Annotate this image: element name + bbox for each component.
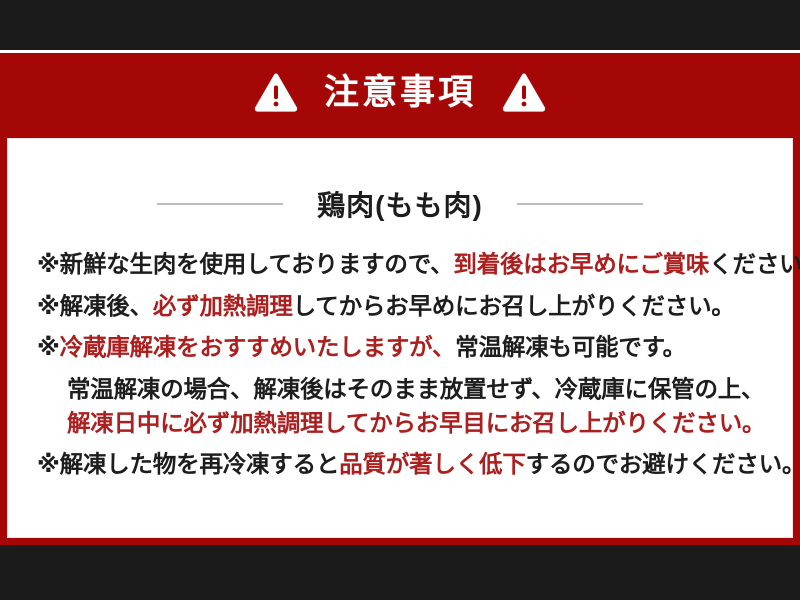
note-fridge-thaw-segment-1: 冷蔵庫解凍をおすすめいたしますが、 bbox=[60, 334, 456, 360]
warning-banner: 注意事項 bbox=[0, 53, 800, 131]
note-freshness: ※新鮮な生肉を使用しておりますので、到着後はお早めにご賞味ください。 bbox=[37, 252, 767, 277]
content-red-frame: 鶏肉(もも肉) ※新鮮な生肉を使用しておりますので、到着後はお早めにご賞味くださ… bbox=[0, 131, 800, 545]
note-fridge-thaw: ※冷蔵庫解凍をおすすめいたしますが、常温解凍も可能です。 bbox=[37, 335, 767, 360]
content-area: 鶏肉(もも肉) ※新鮮な生肉を使用しておりますので、到着後はお早めにご賞味くださ… bbox=[8, 139, 792, 537]
note-freshness-segment-2: ください。 bbox=[709, 251, 800, 277]
note-no-refreeze-segment-1: 品質が著しく低下 bbox=[339, 451, 525, 477]
poster-card: 注意事項 鶏肉(もも肉) ※新鮮な生肉を使用しておりますので、到着後はお早めにご… bbox=[0, 50, 800, 545]
note-same-day-cook: 解凍日中に必ず加熱調理してからお早目にお召し上がりください。 bbox=[37, 411, 767, 436]
note-no-refreeze: ※解凍した物を再冷凍すると品質が著しく低下するのでお避けください。 bbox=[37, 452, 767, 477]
note-fridge-thaw-segment-0: ※ bbox=[37, 334, 60, 360]
note-cook-after-thaw-segment-1: 必ず加熱調理 bbox=[153, 293, 293, 319]
banner-title: 注意事項 bbox=[324, 75, 476, 110]
notice-poster-page: 注意事項 鶏肉(もも肉) ※新鮮な生肉を使用しておりますので、到着後はお早めにご… bbox=[0, 0, 800, 600]
product-name: 鶏肉(もも肉) bbox=[317, 184, 483, 224]
note-freshness-segment-1: 到着後はお早めにご賞味 bbox=[453, 251, 709, 277]
note-cook-after-thaw-segment-0: ※解凍後、 bbox=[37, 293, 153, 319]
notice-list: ※新鮮な生肉を使用しておりますので、到着後はお早めにご賞味ください。※解凍後、必… bbox=[11, 252, 789, 477]
decorative-rule-left bbox=[157, 203, 283, 205]
warning-triangle-icon bbox=[254, 72, 298, 112]
letterbox-bar-top bbox=[0, 0, 800, 50]
letterbox-bar-bottom bbox=[0, 545, 800, 600]
note-no-refreeze-segment-2: するのでお避けください。 bbox=[526, 451, 800, 477]
note-room-temp-detail: 常温解凍の場合、解凍後はそのまま放置せず、冷蔵庫に保管の上、 bbox=[37, 377, 767, 402]
note-fridge-thaw-segment-2: 常温解凍も可能です。 bbox=[455, 334, 686, 360]
decorative-rule-right bbox=[517, 203, 643, 205]
product-heading: 鶏肉(もも肉) bbox=[11, 184, 789, 224]
note-cook-after-thaw-segment-2: してからお早めにお召し上がりください。 bbox=[293, 293, 735, 319]
note-same-day-cook-segment-0: 解凍日中に必ず加熱調理してからお早目にお召し上がりください。 bbox=[67, 410, 765, 436]
note-room-temp-detail-segment-0: 常温解凍の場合、解凍後はそのまま放置せず、冷蔵庫に保管の上、 bbox=[67, 376, 764, 402]
note-freshness-segment-0: ※新鮮な生肉を使用しておりますので、 bbox=[37, 251, 453, 277]
note-cook-after-thaw: ※解凍後、必ず加熱調理してからお早めにお召し上がりください。 bbox=[37, 294, 767, 319]
warning-triangle-icon bbox=[502, 72, 546, 112]
note-no-refreeze-segment-0: ※解凍した物を再冷凍すると bbox=[37, 451, 339, 477]
